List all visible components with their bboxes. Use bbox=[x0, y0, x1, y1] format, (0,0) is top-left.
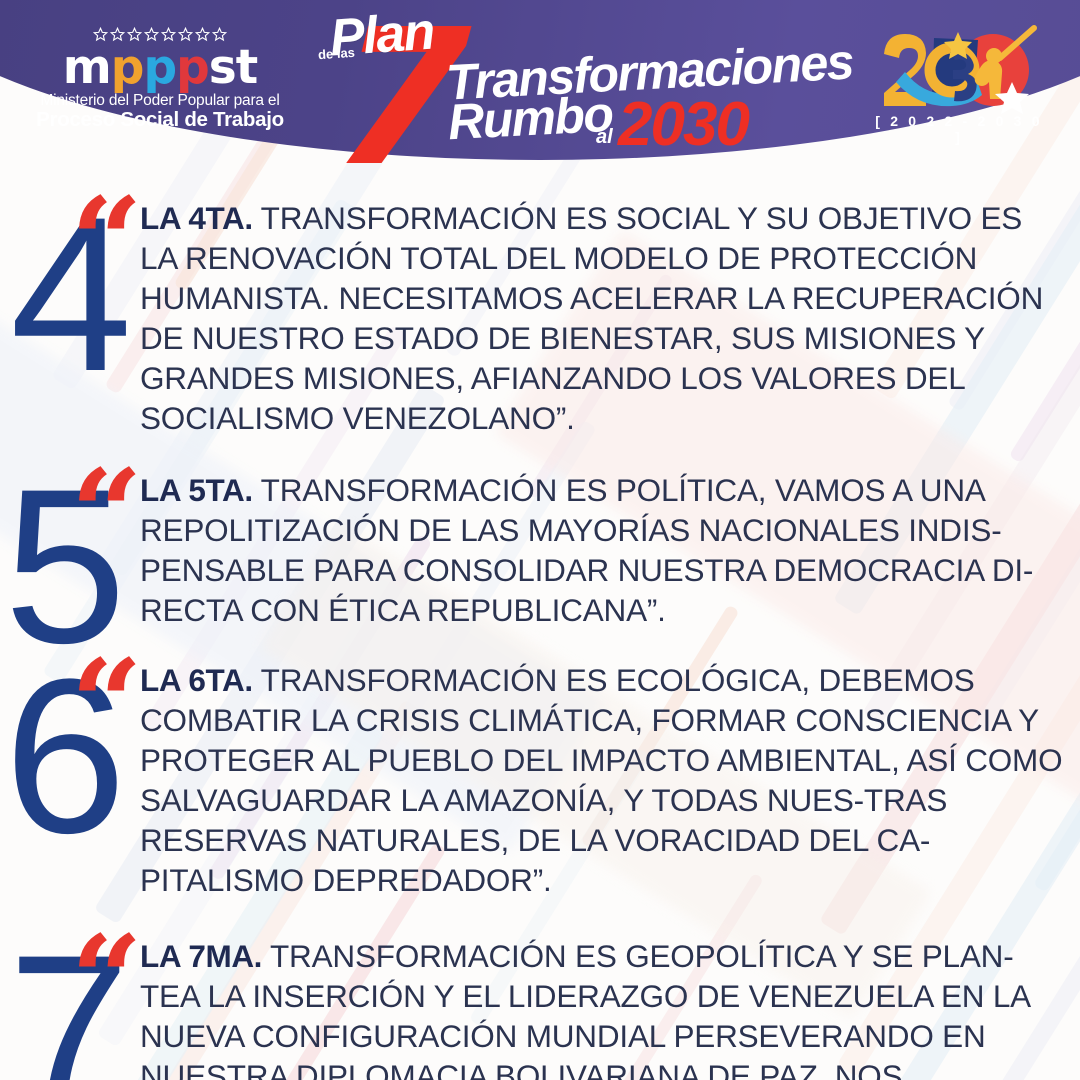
logo-letter-5: t bbox=[236, 45, 257, 91]
transformation-block-7: 7 “ LA 7MA. TRANSFORMACIÓN ES GEOPOLÍTIC… bbox=[0, 936, 1080, 1080]
transformation-block-5: 5 “ LA 5TA. TRANSFORMACIÓN ES POLÍTICA, … bbox=[0, 470, 1080, 630]
transformation-text-5: LA 5TA. TRANSFORMACIÓN ES POLÍTICA, VAMO… bbox=[140, 470, 1066, 630]
campaign-delas-word: de las bbox=[318, 45, 356, 63]
quote-mark-icon-7: “ bbox=[70, 920, 136, 1040]
mppst-wordmark: mpppst bbox=[30, 45, 290, 91]
transformation-body-5: TRANSFORMACIÓN ES POLÍTICA, VAMOS A UNA … bbox=[140, 472, 1033, 628]
campaign-rumbo-word: Rumbo bbox=[447, 88, 614, 149]
transformations-list: 4 “ LA 4TA. TRANSFORMACIÓN ES SOCIAL Y S… bbox=[0, 176, 1080, 1080]
transformation-text-4: LA 4TA. TRANSFORMACIÓN ES SOCIAL Y SU OB… bbox=[140, 198, 1066, 438]
emblem-artwork bbox=[874, 24, 1044, 124]
transformation-block-6: 6 “ LA 6TA. TRANSFORMACIÓN ES ECOLÓGICA,… bbox=[0, 660, 1080, 900]
quote-mark-icon-4: “ bbox=[70, 182, 136, 302]
transformation-text-6: LA 6TA. TRANSFORMACIÓN ES ECOLÓGICA, DEB… bbox=[140, 660, 1066, 900]
header-banner: mpppst Ministerio del Poder Popular para… bbox=[0, 0, 1080, 178]
transformation-lead-5: LA 5TA. bbox=[140, 472, 253, 508]
ministry-line-1: Ministerio del Poder Popular para el bbox=[30, 92, 290, 109]
transformation-lead-6: LA 6TA. bbox=[140, 662, 253, 698]
transformation-body-6: TRANSFORMACIÓN ES ECOLÓGICA, DEBEMOS COM… bbox=[140, 662, 1062, 898]
logo-letter-3: p bbox=[176, 45, 209, 91]
mppst-logo: mpppst Ministerio del Poder Popular para… bbox=[30, 27, 290, 131]
transformation-block-4: 4 “ LA 4TA. TRANSFORMACIÓN ES SOCIAL Y S… bbox=[0, 198, 1080, 438]
logo-letter-0: m bbox=[63, 45, 111, 91]
2030-emblem-icon: [ 2 0 2 2 - 2 0 3 0 ] bbox=[874, 24, 1044, 142]
logo-letter-4: s bbox=[209, 45, 236, 91]
logo-letter-2: p bbox=[143, 45, 176, 91]
logo-letter-1: p bbox=[111, 45, 144, 91]
transformation-body-4: TRANSFORMACIÓN ES SOCIAL Y SU OBJETIVO E… bbox=[140, 200, 1043, 436]
transformation-lead-4: LA 4TA. bbox=[140, 200, 253, 236]
transformation-text-7: LA 7MA. TRANSFORMACIÓN ES GEOPOLÍTICA Y … bbox=[140, 936, 1066, 1080]
campaign-year-2030: 2030 bbox=[618, 94, 748, 156]
poster-root: mpppst Ministerio del Poder Popular para… bbox=[0, 0, 1080, 1080]
transformation-body-7: TRANSFORMACIÓN ES GEOPOLÍTICA Y SE PLAN-… bbox=[140, 938, 1029, 1080]
campaign-al-word: al bbox=[596, 126, 613, 149]
quote-mark-icon-5: “ bbox=[70, 454, 136, 574]
emblem-years-label: [ 2 0 2 2 - 2 0 3 0 ] bbox=[874, 113, 1044, 145]
campaign-lockup: 7 Plan de las Transformaciones Rumbo al … bbox=[318, 8, 878, 178]
quote-mark-icon-6: “ bbox=[70, 644, 136, 764]
ministry-line-2: Proceso Social de Trabajo bbox=[30, 109, 290, 131]
transformation-lead-7: LA 7MA. bbox=[140, 938, 262, 974]
